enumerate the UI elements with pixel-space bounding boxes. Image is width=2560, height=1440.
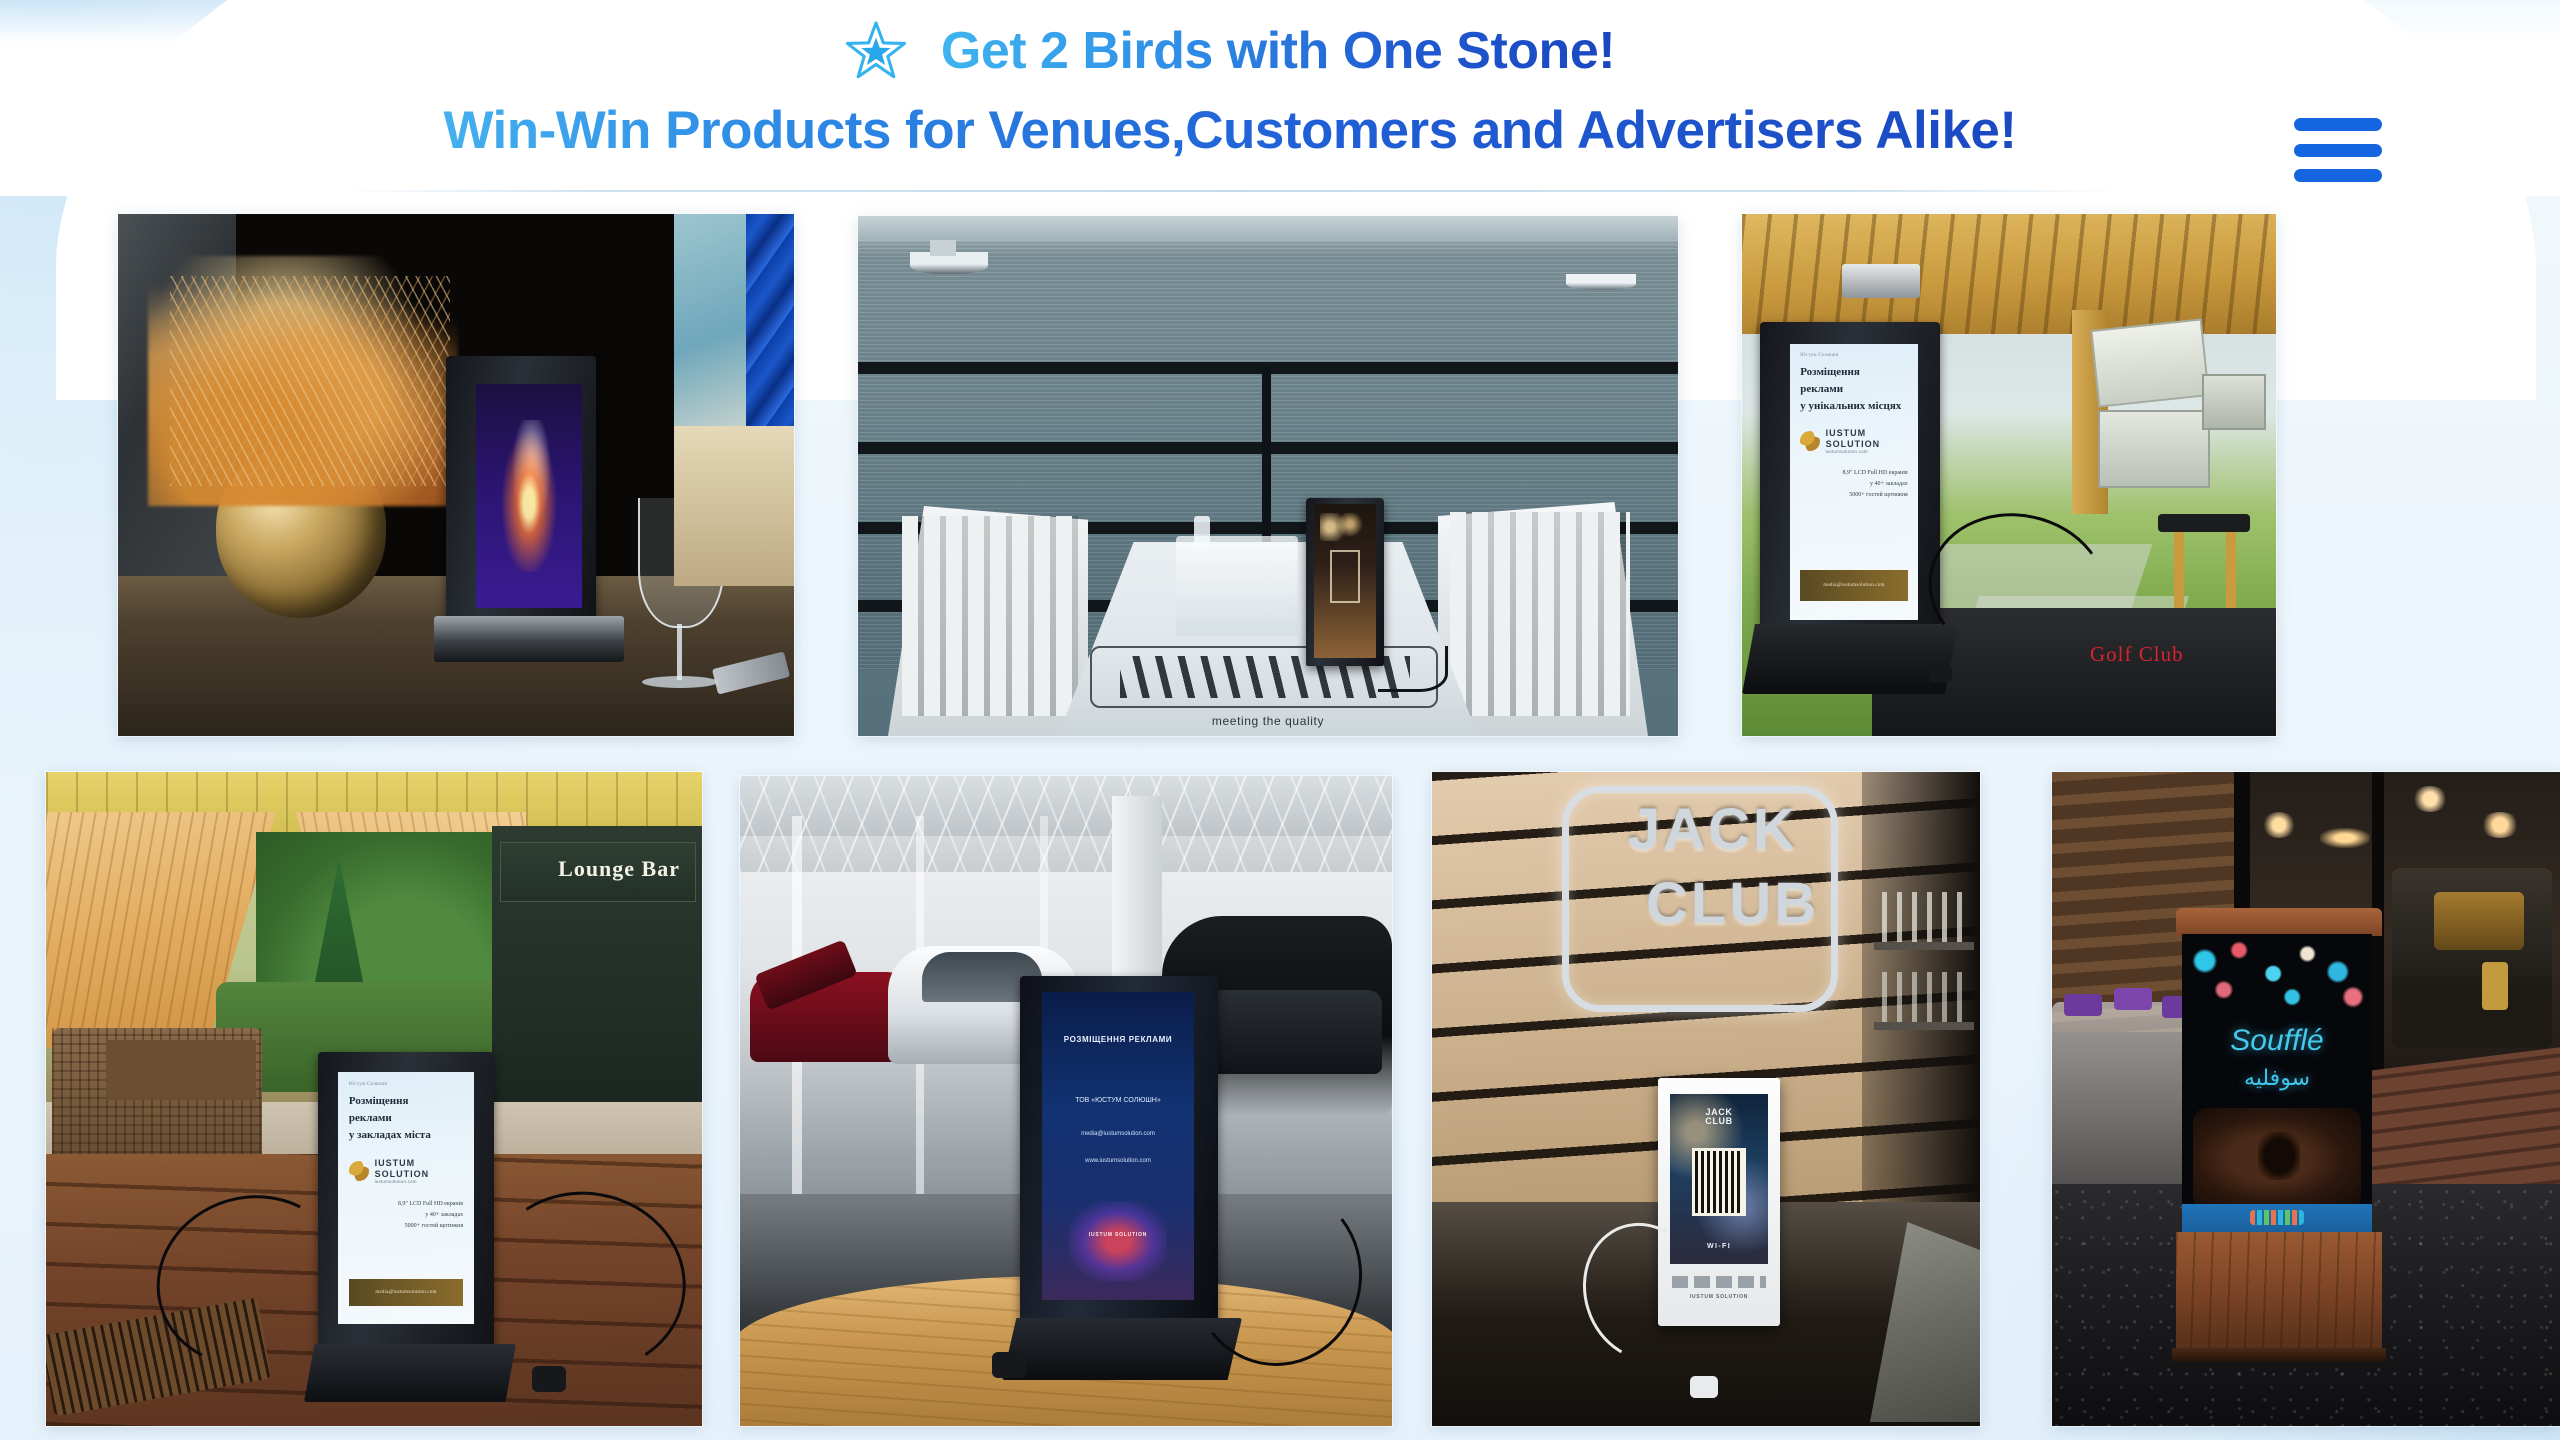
kiosk-headline-3: у унікальних місцях xyxy=(1800,398,1908,415)
iustum-logo-icon xyxy=(1800,431,1820,451)
gallery-photo-car-showroom-display[interactable]: РОЗМІЩЕННЯ РЕКЛАМИ ТОВ «ЮСТУМ СОЛЮШН» me… xyxy=(740,776,1392,1426)
star-icon xyxy=(845,21,907,81)
header-divider xyxy=(340,190,2120,192)
title-line-2: Win-Win Products for Venues,Customers an… xyxy=(340,88,2120,174)
gallery-photo-golf-club-display[interactable]: Юстум Солюшн Розміщення реклами у унікал… xyxy=(1742,214,2276,736)
kiosk-spec-2: у 40+ закладах xyxy=(1800,479,1908,490)
tablecloth-tagline: meeting the quality xyxy=(858,714,1678,728)
kiosk-brand-site: iustumsolution.com xyxy=(375,1179,464,1184)
hamburger-bar-2 xyxy=(2294,144,2382,157)
kiosk-headline-1: Розміщення xyxy=(349,1093,463,1110)
kiosk-headline-1: Розміщення xyxy=(1800,364,1908,381)
kiosk-brand-name: IUSTUM SOLUTION xyxy=(1826,428,1881,448)
kiosk-mail: media@iustumsolution.com xyxy=(1800,570,1908,600)
jack-club-screen-brand-line-2: CLUB xyxy=(1670,1117,1768,1126)
hamburger-bar-3 xyxy=(2294,169,2382,182)
showroom-screen-mail: media@iustumsolution.com xyxy=(1051,1131,1185,1137)
souffle-screen-title-arabic: سوفليه xyxy=(2182,1066,2372,1091)
hamburger-menu-icon[interactable] xyxy=(2294,118,2382,182)
kiosk-brand-name: IUSTUM SOLUTION xyxy=(375,1158,430,1178)
gallery-photo-restaurant-table-display[interactable] xyxy=(118,214,794,736)
lounge-kiosk-ad: Юстум Солюшн Розміщення реклами у заклад… xyxy=(338,1072,474,1324)
golf-kiosk-ad: Юстум Солюшн Розміщення реклами у унікал… xyxy=(1790,344,1918,620)
kiosk-spec-3: 5000+ гостей щотижня xyxy=(349,1221,463,1232)
kiosk-caption: Юстум Солюшн xyxy=(1800,353,1908,358)
page-title: Get 2 Birds with One Stone! Win-Win Prod… xyxy=(340,14,2120,174)
kiosk-spec-3: 5000+ гостей щотижня xyxy=(1800,490,1908,501)
showroom-screen-site: www.iustumsolution.com xyxy=(1051,1158,1185,1164)
iustum-logo-icon xyxy=(349,1161,369,1181)
title-line-1-row: Get 2 Birds with One Stone! xyxy=(340,14,2120,88)
showroom-screen-headline: РОЗМІЩЕННЯ РЕКЛАМИ xyxy=(1051,1035,1185,1044)
lounge-bar-terrace-scene: Lounge Bar Юстум Солюшн Розміщення рекла… xyxy=(46,772,702,1426)
golf-club-scene: Юстум Солюшн Розміщення реклами у унікал… xyxy=(1742,214,2276,736)
kiosk-mail: media@iustumsolution.com xyxy=(349,1279,463,1307)
restaurant-table-scene xyxy=(118,214,794,736)
car-showroom-scene: РОЗМІЩЕННЯ РЕКЛАМИ ТОВ «ЮСТУМ СОЛЮШН» me… xyxy=(740,776,1392,1426)
gallery-photo-jack-club-bar-display[interactable]: JACK CLUB JACK CLUB WI-FI IUSTUM SOLUTIO… xyxy=(1432,772,1980,1426)
jack-club-bar-scene: JACK CLUB JACK CLUB WI-FI IUSTUM SOLUTIO… xyxy=(1432,772,1980,1426)
kiosk-brand-site: iustumsolution.com xyxy=(1826,449,1908,454)
lounge-bar-sign: Lounge Bar xyxy=(558,856,680,882)
gallery-photo-souffle-cafe-display[interactable]: Soufflé سوفليه xyxy=(2052,772,2560,1426)
jack-club-sign-line-2: CLUB xyxy=(1646,870,1819,937)
kiosk-spec-2: у 40+ закладах xyxy=(349,1210,463,1221)
kiosk-headline-2: реклами xyxy=(1800,381,1908,398)
showroom-screen-brand: IUSTUM SOLUTION xyxy=(1042,1232,1194,1238)
jack-club-sign-line-1: JACK xyxy=(1628,796,1798,863)
souffle-cafe-scene: Soufflé سوفليه xyxy=(2052,772,2560,1426)
kiosk-caption: Юстум Солюшн xyxy=(349,1082,463,1087)
golf-club-overlay-label: Golf Club xyxy=(2090,642,2184,667)
seaside-terrace-scene: meeting the quality xyxy=(858,216,1678,736)
gallery-photo-lounge-bar-terrace-display[interactable]: Lounge Bar Юстум Солюшн Розміщення рекла… xyxy=(46,772,702,1426)
kiosk-headline-3: у закладах міста xyxy=(349,1127,463,1144)
souffle-screen-title: Soufflé xyxy=(2182,1024,2372,1058)
page-header: Get 2 Birds with One Stone! Win-Win Prod… xyxy=(0,0,2560,196)
gallery-photo-seaside-terrace-display[interactable]: meeting the quality xyxy=(858,216,1678,736)
showroom-screen-company: ТОВ «ЮСТУМ СОЛЮШН» xyxy=(1051,1097,1185,1104)
kiosk-spec-1: 8,9" LCD Full HD екранів xyxy=(349,1199,463,1210)
title-line-1: Get 2 Birds with One Stone! xyxy=(941,21,1615,81)
kiosk-spec-1: 8,9" LCD Full HD екранів xyxy=(1800,468,1908,479)
hamburger-bar-1 xyxy=(2294,118,2382,131)
photo-gallery: meeting the quality xyxy=(0,0,2560,1440)
kiosk-headline-2: реклами xyxy=(349,1110,463,1127)
